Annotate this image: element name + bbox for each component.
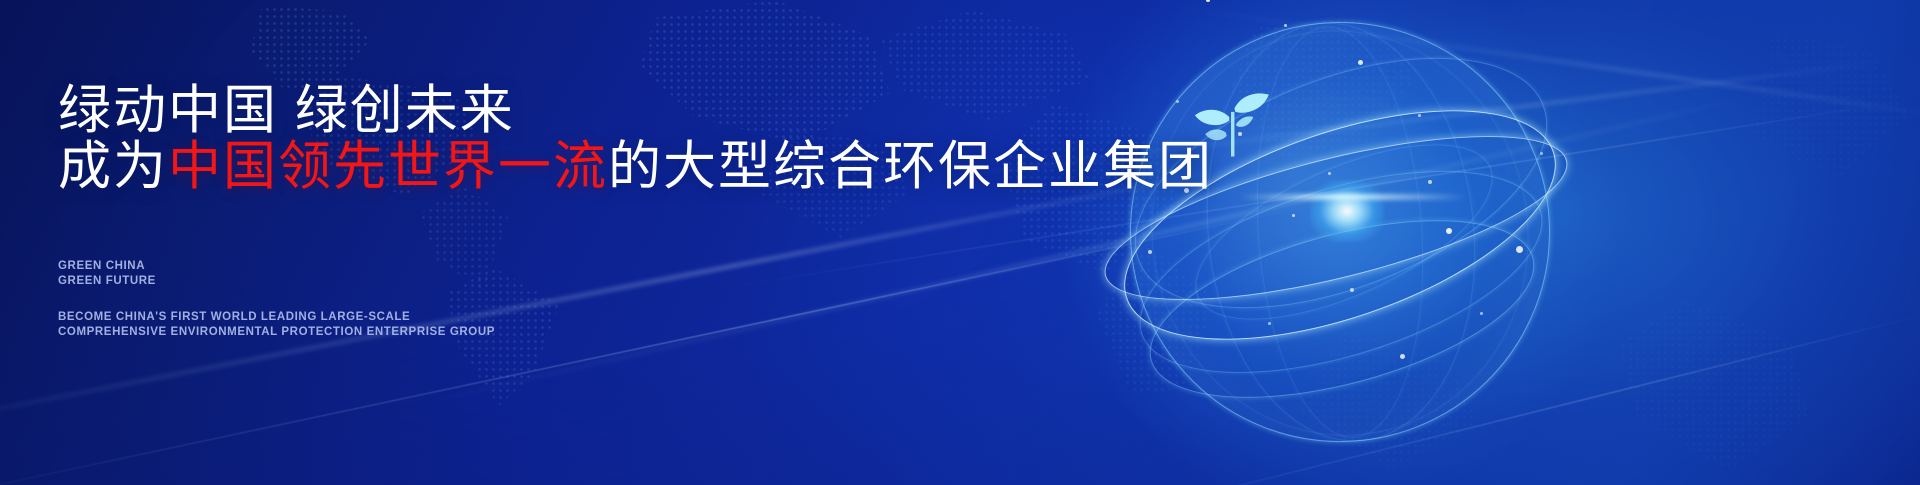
description-english: BECOME CHINA'S FIRST WORLD LEADING LARGE… — [58, 310, 495, 340]
star-particle — [1238, 132, 1242, 136]
headline-secondary-suffix: 的大型综合环保企业集团 — [608, 137, 1213, 196]
tagline-line-2: GREEN FUTURE — [58, 274, 156, 289]
hero-banner: 绿动中国 绿创未来 成为中国领先世界一流的大型综合环保企业集团 GREEN CH… — [0, 0, 1920, 485]
headline-primary-text: 绿动中国 绿创未来 — [58, 81, 515, 140]
tagline-line-1: GREEN CHINA — [58, 259, 156, 274]
star-particle — [1358, 60, 1363, 65]
star-particle — [1446, 228, 1452, 234]
star-particle — [1418, 114, 1421, 117]
star-particle — [1176, 100, 1179, 103]
globe-core-flare — [1238, 194, 1468, 200]
star-particle — [1480, 312, 1483, 315]
description-line-1: BECOME CHINA'S FIRST WORLD LEADING LARGE… — [58, 310, 495, 325]
headline-secondary: 成为中国领先世界一流的大型综合环保企业集团 — [58, 140, 1213, 193]
headline-primary: 绿动中国 绿创未来 — [58, 84, 515, 137]
star-particle — [1540, 152, 1543, 155]
headline-secondary-accent: 中国领先世界一流 — [168, 137, 608, 196]
description-line-2: COMPREHENSIVE ENVIRONMENTAL PROTECTION E… — [58, 325, 495, 340]
star-particle — [1350, 288, 1354, 292]
wireframe-globe-graphic — [1088, 0, 1588, 482]
star-particle — [1328, 172, 1331, 175]
star-particle — [1400, 354, 1405, 359]
globe-core-glow — [1310, 180, 1384, 242]
star-particle — [1516, 246, 1523, 253]
star-particle — [1268, 322, 1271, 325]
headline-secondary-prefix: 成为 — [58, 137, 168, 196]
star-particle — [1428, 180, 1432, 184]
star-particle — [1284, 24, 1287, 27]
star-particle — [1292, 214, 1295, 217]
star-particle — [1148, 250, 1152, 254]
tagline-english: GREEN CHINA GREEN FUTURE — [58, 259, 156, 289]
